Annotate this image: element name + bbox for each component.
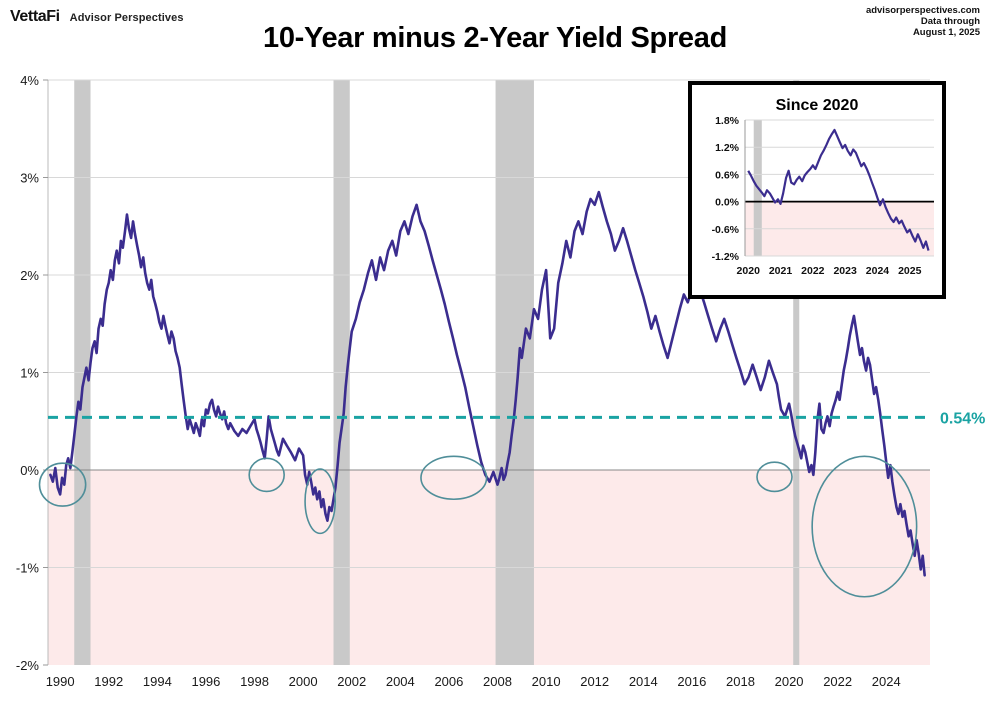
inset-y-tick-label: 1.2% [715, 142, 740, 154]
y-axis-tick-label: 4% [20, 73, 39, 88]
x-axis-tick-label: 2002 [337, 674, 366, 689]
x-axis-tick-label: 2018 [726, 674, 755, 689]
current-value-label: 0.54% [940, 410, 985, 427]
x-axis-tick-label: 1990 [46, 674, 75, 689]
x-axis-tick-label: 1992 [94, 674, 123, 689]
x-axis-tick-label: 2014 [629, 674, 658, 689]
x-axis-tick-label: 1998 [240, 674, 269, 689]
x-axis-tick-label: 2010 [532, 674, 561, 689]
x-axis-tick-label: 1994 [143, 674, 172, 689]
inset-y-tick-label: -0.6% [712, 224, 740, 236]
inset-x-tick-label: 2025 [898, 265, 922, 277]
x-axis-tick-label: 2006 [434, 674, 463, 689]
y-axis-tick-label: -2% [16, 658, 40, 673]
y-axis-tick-label: 0% [20, 463, 39, 478]
inset-x-tick-label: 2023 [833, 265, 857, 277]
inset-x-tick-label: 2024 [866, 265, 890, 277]
inset-y-tick-label: 1.8% [715, 115, 740, 127]
y-axis-tick-label: -1% [16, 561, 40, 576]
x-axis-tick-label: 2016 [677, 674, 706, 689]
x-axis-tick-label: 2000 [289, 674, 318, 689]
yield-spread-chart: -2%-1%0%1%2%3%4%199019921994199619982000… [0, 0, 990, 719]
x-axis-tick-label: 2024 [872, 674, 901, 689]
inset-x-tick-label: 2020 [737, 265, 761, 277]
x-axis-tick-label: 1996 [191, 674, 220, 689]
x-axis-tick-label: 2004 [386, 674, 415, 689]
inset-title: Since 2020 [776, 97, 859, 114]
x-axis-tick-label: 2020 [775, 674, 804, 689]
x-axis-tick-label: 2008 [483, 674, 512, 689]
x-axis-tick-label: 2012 [580, 674, 609, 689]
inset-x-tick-label: 2021 [769, 265, 793, 277]
inset-y-tick-label: 0.0% [715, 197, 740, 209]
y-axis-tick-label: 1% [20, 366, 39, 381]
y-axis-tick-label: 2% [20, 268, 39, 283]
chart-page: VettaFi Advisor Perspectives advisorpers… [0, 0, 990, 719]
inset-y-tick-label: 0.6% [715, 169, 740, 181]
inset-chart-group: -1.2%-0.6%0.0%0.6%1.2%1.8%20202021202220… [690, 83, 944, 297]
y-axis-tick-label: 3% [20, 171, 39, 186]
x-axis-tick-label: 2022 [823, 674, 852, 689]
inset-x-tick-label: 2022 [801, 265, 825, 277]
inset-y-tick-label: -1.2% [712, 251, 740, 263]
